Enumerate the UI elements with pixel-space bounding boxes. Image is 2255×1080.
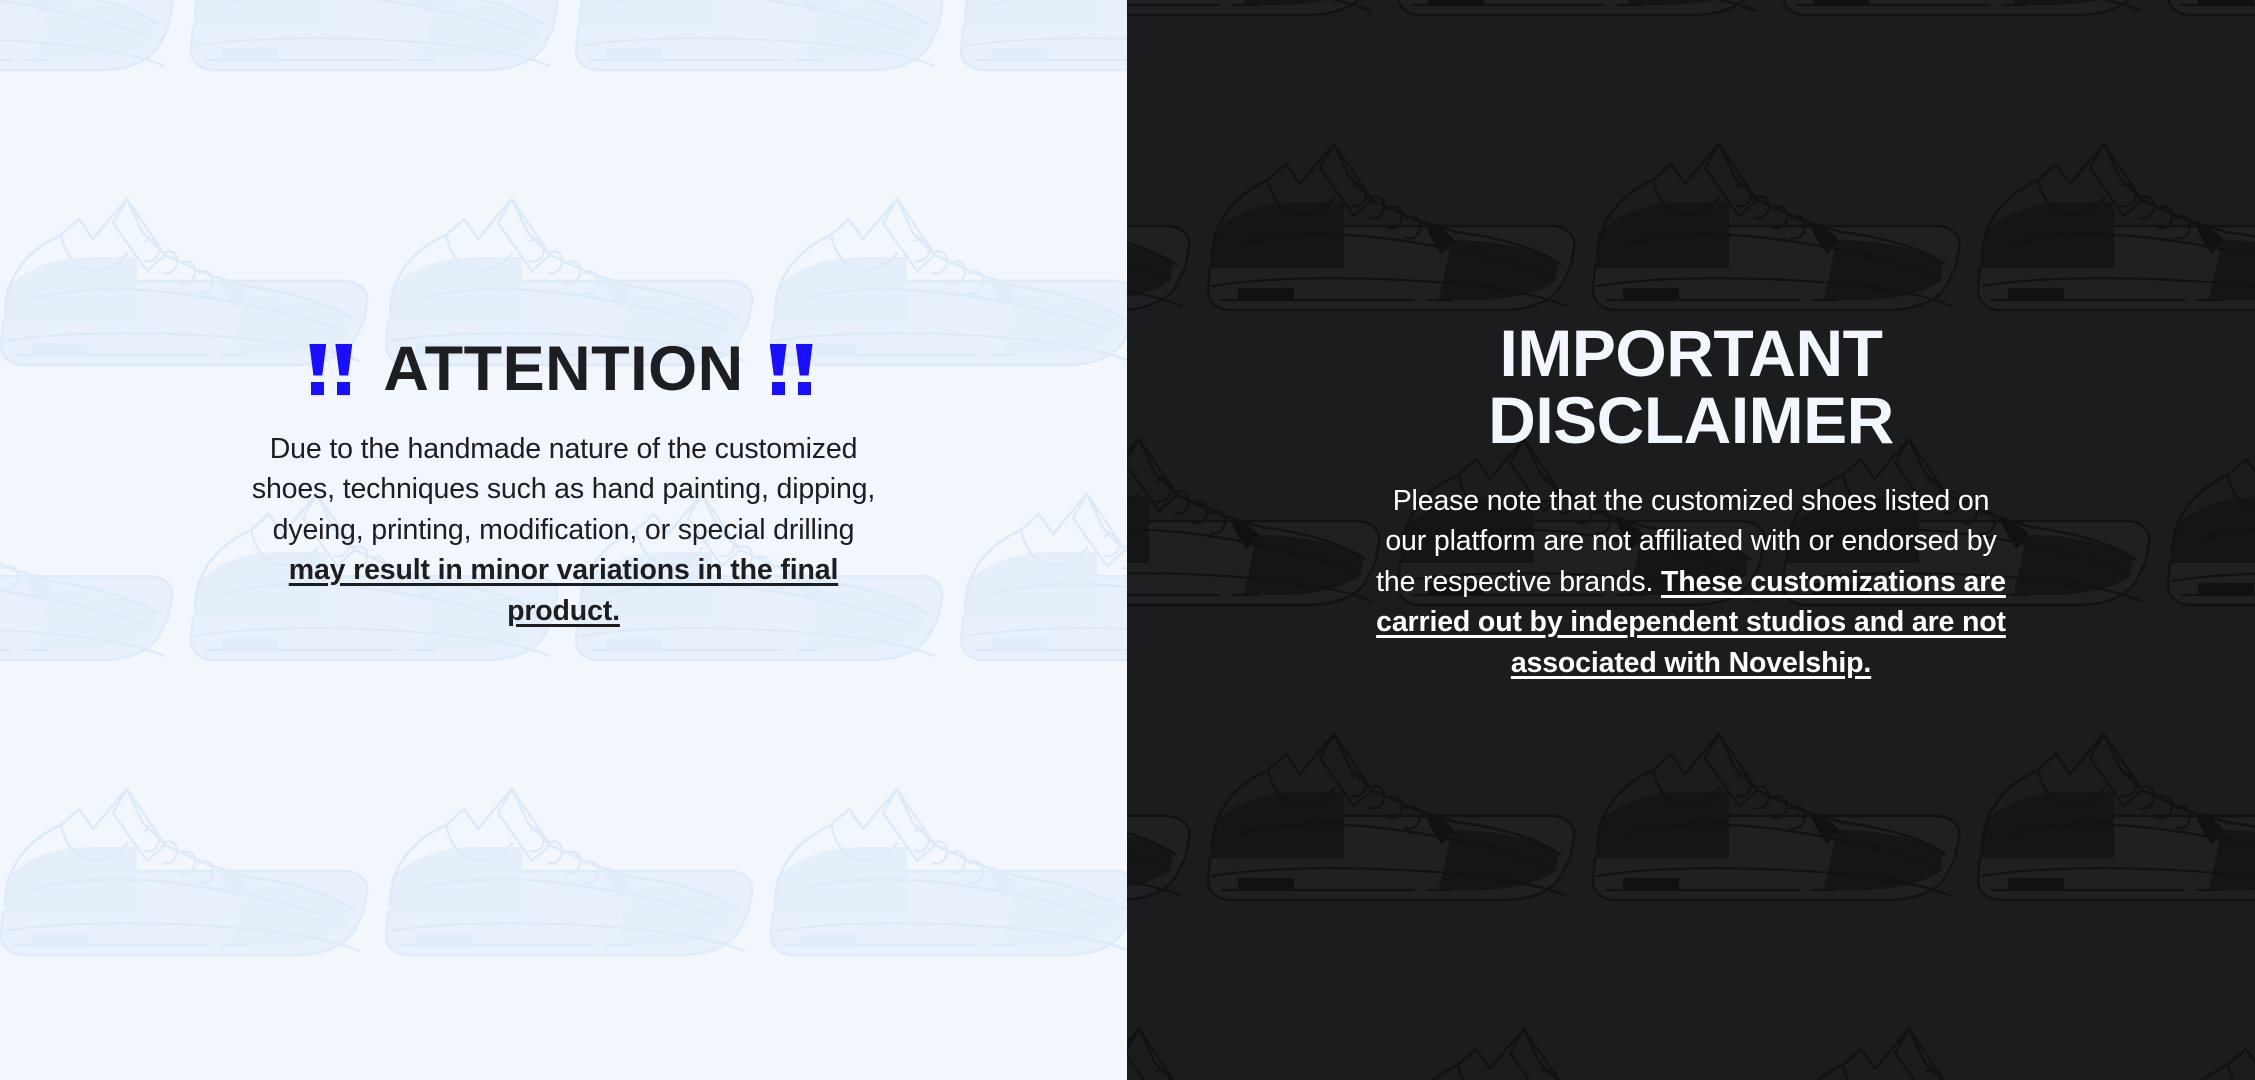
disclaimer-body: Please note that the customized shoes li… [1371,481,2011,683]
attention-body-lead: Due to the handmade nature of the custom… [252,433,875,546]
disclaimer-heading-line-1: IMPORTANT [1500,316,1883,390]
attention-panel: ATTENTION Due to the handmade nature of … [0,0,1127,1080]
disclaimer-content: IMPORTANT DISCLAIMER Please note that th… [1127,0,2255,683]
double-exclamation-icon-left [309,344,357,396]
attention-body-emphasis: may result in minor variations in the fi… [289,554,838,626]
disclaimer-heading-line-2: DISCLAIMER [1488,383,1894,457]
disclaimer-banner: ATTENTION Due to the handmade nature of … [0,0,2255,1080]
attention-content: ATTENTION Due to the handmade nature of … [0,0,1127,631]
attention-heading-text: ATTENTION [383,338,743,401]
double-exclamation-icon-right [770,344,818,396]
attention-body: Due to the handmade nature of the custom… [244,429,884,631]
attention-heading: ATTENTION [309,338,817,401]
disclaimer-panel: IMPORTANT DISCLAIMER Please note that th… [1127,0,2255,1080]
disclaimer-heading: IMPORTANT DISCLAIMER [1488,320,1894,455]
